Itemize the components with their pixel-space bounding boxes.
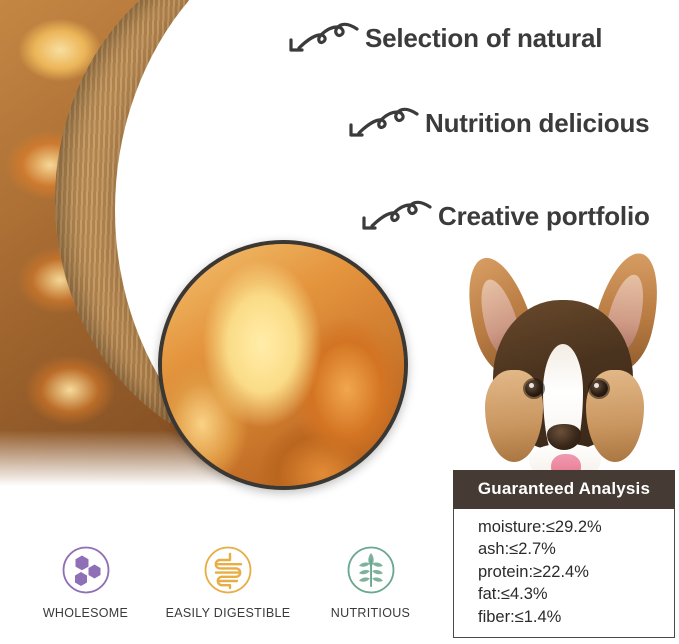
magnifier-inset	[158, 240, 408, 490]
analysis-row: protein:≥22.4%	[478, 561, 674, 583]
benefit-label: WHOLESOME	[43, 606, 128, 620]
wheat-leaf-icon	[346, 545, 396, 595]
benefit-label: EASILY DIGESTIBLE	[166, 606, 291, 620]
callout-label: Creative portfolio	[438, 201, 650, 232]
guaranteed-analysis-panel: Guaranteed Analysis moisture:≤29.2% ash:…	[453, 470, 675, 638]
benefit-item-easily-digestible: EASILY DIGESTIBLE	[161, 545, 296, 620]
callout-label: Nutrition delicious	[425, 108, 649, 139]
callout-row: Selection of natural	[285, 14, 602, 62]
dog-eye-right	[590, 380, 608, 397]
analysis-row: fat:≤4.3%	[478, 583, 674, 605]
callout-label: Selection of natural	[365, 23, 602, 54]
promo-infographic: Selection of natural Nutrition delicious…	[0, 0, 679, 644]
dog-eye-left	[525, 380, 543, 397]
curly-arrow-icon	[358, 192, 432, 240]
benefit-item-nutritious: NUTRITIOUS	[303, 545, 438, 620]
callout-row: Creative portfolio	[358, 192, 650, 240]
analysis-title: Guaranteed Analysis	[453, 470, 675, 509]
curly-arrow-icon	[285, 14, 359, 62]
analysis-row: fiber:≤1.4%	[478, 606, 674, 628]
curly-arrow-icon	[345, 99, 419, 147]
benefit-item-wholesome: WHOLESOME	[18, 545, 153, 620]
analysis-rows: moisture:≤29.2% ash:≤2.7% protein:≥22.4%…	[453, 509, 675, 638]
callout-row: Nutrition delicious	[345, 99, 649, 147]
intestine-icon	[203, 545, 253, 595]
benefits-row: WHOLESOME EASILY DIGESTIBLE	[18, 545, 438, 620]
analysis-row: moisture:≤29.2%	[478, 516, 674, 538]
benefit-label: NUTRITIOUS	[331, 606, 410, 620]
hexagon-cluster-icon	[61, 545, 111, 595]
analysis-row: ash:≤2.7%	[478, 538, 674, 560]
magnified-treat-closeup	[158, 240, 408, 490]
corgi-puppy-photo	[455, 248, 670, 483]
